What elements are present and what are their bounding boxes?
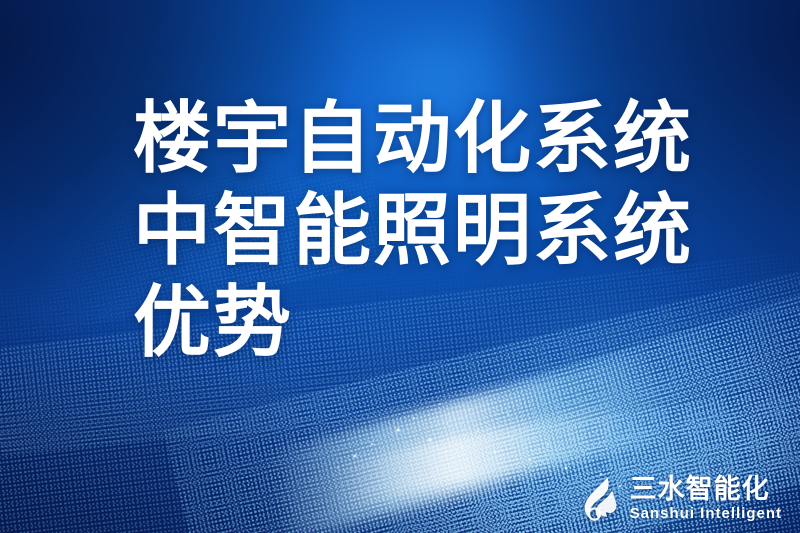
headline-line-3: 优势 bbox=[133, 276, 733, 368]
banner-canvas: 楼宇自动化系统 中智能照明系统 优势 三水智能化 Sanshui Intelli… bbox=[0, 0, 800, 533]
water-drop-flame-icon bbox=[581, 476, 621, 522]
logo-chinese-name: 三水智能化 bbox=[630, 474, 770, 504]
brand-logo[interactable]: 三水智能化 Sanshui Intelligent bbox=[581, 474, 782, 523]
headline-line-1: 楼宇自动化系统 bbox=[133, 92, 733, 184]
headline: 楼宇自动化系统 中智能照明系统 优势 bbox=[133, 92, 733, 368]
headline-line-2: 中智能照明系统 bbox=[133, 184, 733, 276]
logo-english-name: Sanshui Intelligent bbox=[630, 505, 782, 523]
logo-text-group: 三水智能化 Sanshui Intelligent bbox=[630, 474, 782, 523]
